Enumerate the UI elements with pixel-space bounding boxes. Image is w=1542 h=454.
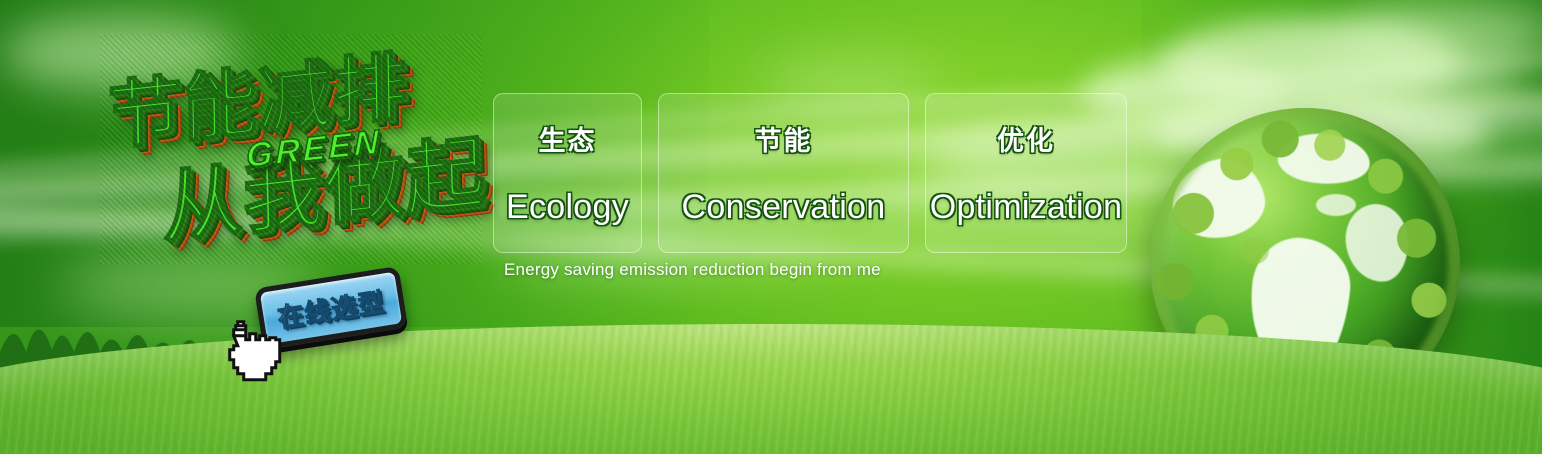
banner-subtitle: Energy saving emission reduction begin f… <box>504 260 881 280</box>
online-selection-label: 在线选型 <box>275 281 387 334</box>
card-title-cn: 生态 <box>539 119 597 158</box>
card-title-cn: 优化 <box>997 119 1055 158</box>
card-title-en: Ecology <box>506 188 629 227</box>
feature-card-ecology[interactable]: 生态 Ecology <box>493 93 642 253</box>
feature-card-list: 生态 Ecology 节能 Conservation 优化 Optimizati… <box>493 93 1127 253</box>
card-title-en: Conservation <box>682 188 886 227</box>
feature-card-optimization[interactable]: 优化 Optimization <box>925 93 1127 253</box>
main-logo: 节能减排 从我做起 GREEN <box>100 34 482 264</box>
card-title-en: Optimization <box>930 188 1123 227</box>
feature-card-conservation[interactable]: 节能 Conservation <box>658 93 909 253</box>
eco-banner: 节能减排 从我做起 GREEN 在线选型 生态 Ecology 节能 Conse… <box>0 0 1542 454</box>
card-title-cn: 节能 <box>755 119 813 158</box>
grass-field <box>0 324 1542 454</box>
